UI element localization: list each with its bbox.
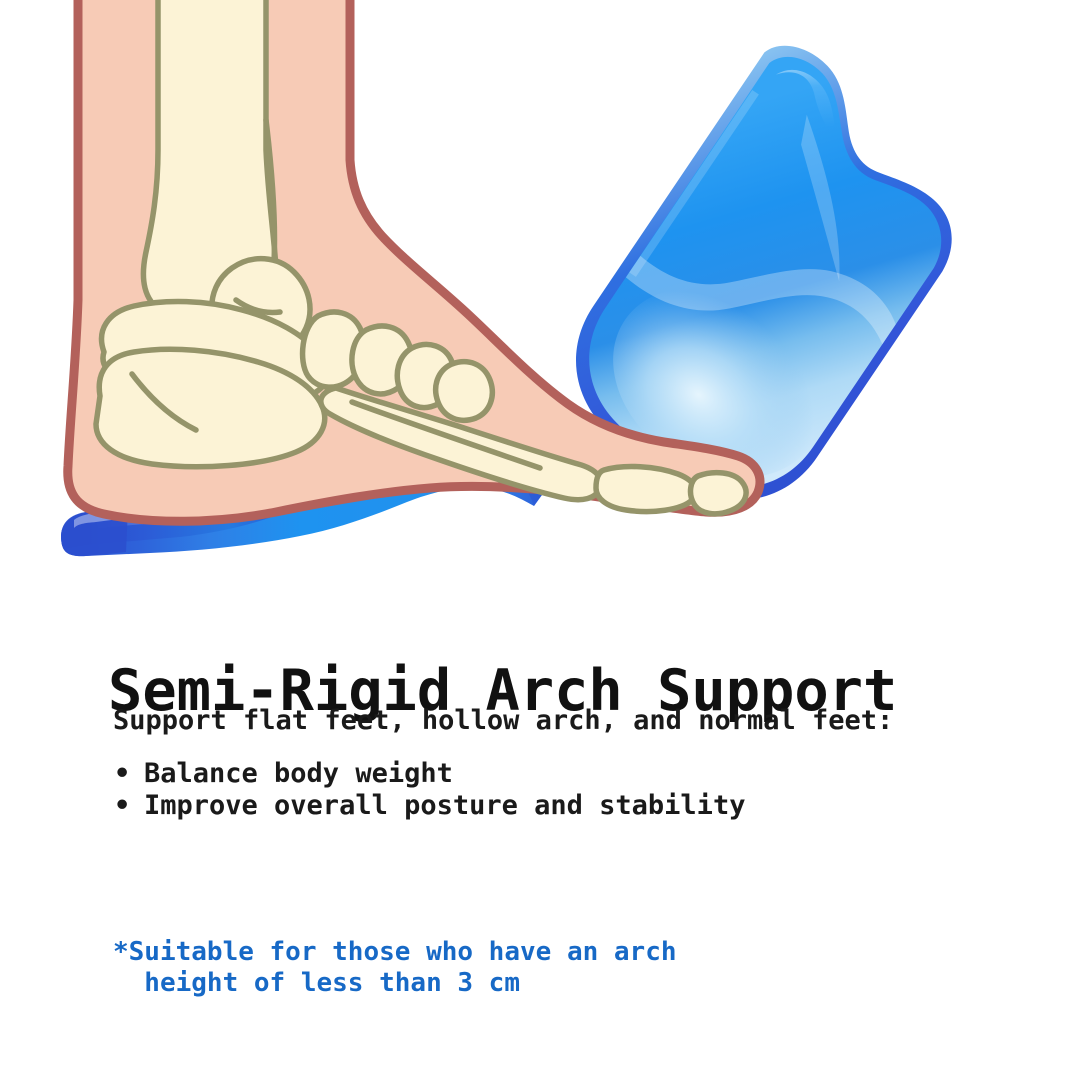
product-infographic: Semi-Rigid Arch Support Support flat fee…: [0, 0, 1080, 1080]
list-item-label: Balance body weight: [144, 758, 453, 789]
bone-cuboid: [436, 362, 493, 421]
bullet-icon: •: [114, 790, 130, 821]
benefits-list: • Balance body weight • Improve overall …: [108, 758, 745, 822]
product-text-block: Semi-Rigid Arch Support Support flat fee…: [0, 600, 1080, 1080]
foot-anatomy-illustration: [0, 0, 1080, 600]
list-item: • Balance body weight: [108, 758, 745, 789]
illustration-canvas: [0, 0, 1080, 600]
footnote-text: *Suitable for those who have an arch hei…: [113, 937, 677, 999]
list-item-label: Improve overall posture and stability: [144, 790, 745, 821]
bullet-icon: •: [114, 758, 130, 789]
product-subtitle: Support flat feet, hollow arch, and norm…: [113, 705, 893, 737]
bone-phalanx-distal: [691, 473, 747, 514]
bone-phalanx-proximal: [596, 467, 696, 512]
list-item: • Improve overall posture and stability: [108, 790, 745, 821]
